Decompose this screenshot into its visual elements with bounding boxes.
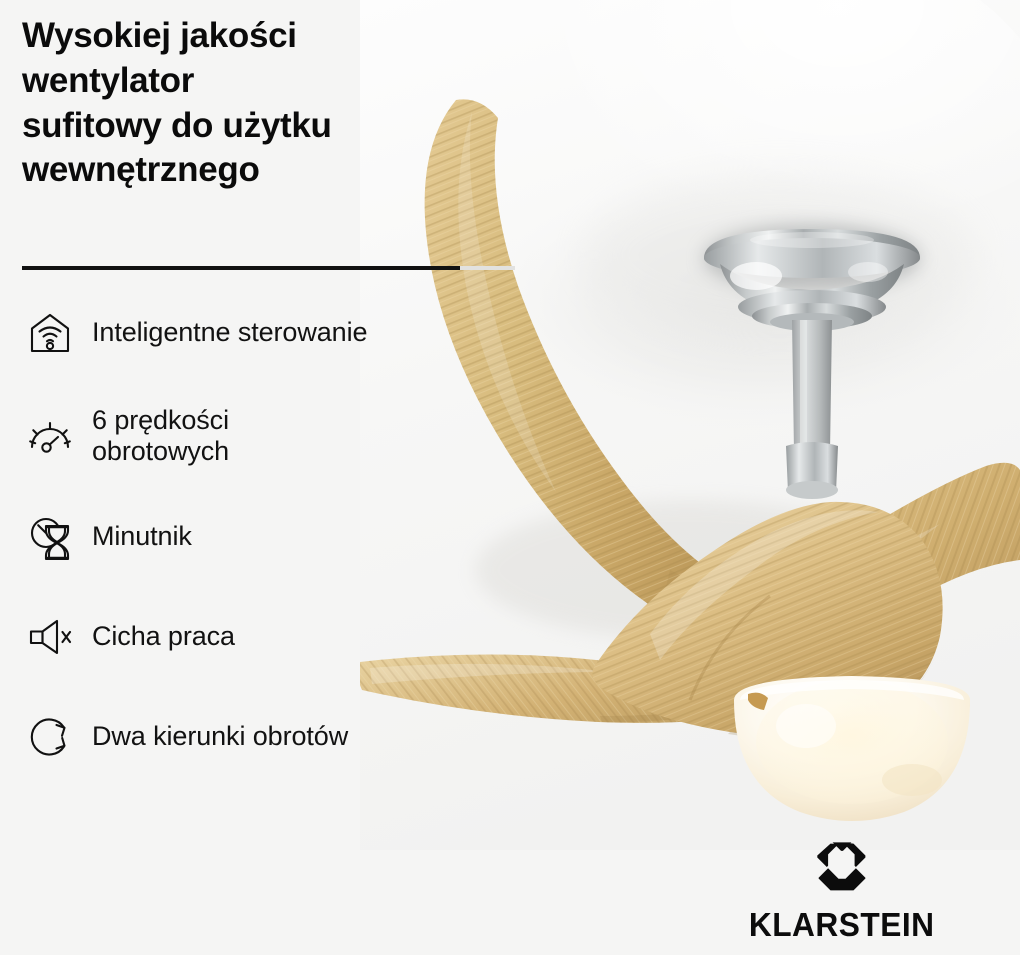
feature-label: Minutnik — [92, 521, 192, 552]
feature-label: Dwa kierunki obrotów — [92, 721, 348, 752]
down-rod — [786, 320, 838, 499]
speed-gauge-icon — [22, 408, 78, 464]
octagon-diamond-logo-icon — [815, 840, 869, 899]
logo-mark-shape — [815, 840, 869, 894]
feature-item-two-directions: Dwa kierunki obrotów — [22, 709, 522, 765]
feature-label: 6 prędkości obrotowych — [92, 405, 229, 468]
brand-name: KLARSTEIN — [749, 906, 935, 944]
page-title: Wysokiej jakości wentylator sufitowy do … — [22, 14, 492, 193]
smart-home-wifi-icon — [22, 305, 78, 361]
feature-item-quiet-operation: Cicha praca — [22, 609, 522, 665]
divider-fill — [22, 266, 460, 270]
timer-hourglass-icon — [22, 509, 78, 565]
feature-item-six-speeds: 6 prędkości obrotowych — [22, 405, 522, 468]
feature-item-timer: Minutnik — [22, 509, 522, 565]
rotation-two-way-icon — [22, 709, 78, 765]
divider — [22, 266, 515, 270]
feature-label: Inteligentne sterowanie — [92, 317, 367, 348]
brand-logo: KLARSTEIN — [742, 840, 942, 944]
product-banner: Wysokiej jakości wentylator sufitowy do … — [0, 0, 1020, 955]
speaker-mute-icon — [22, 609, 78, 665]
feature-label: Cicha praca — [92, 621, 235, 652]
feature-item-smart-control: Inteligentne sterowanie — [22, 305, 522, 361]
